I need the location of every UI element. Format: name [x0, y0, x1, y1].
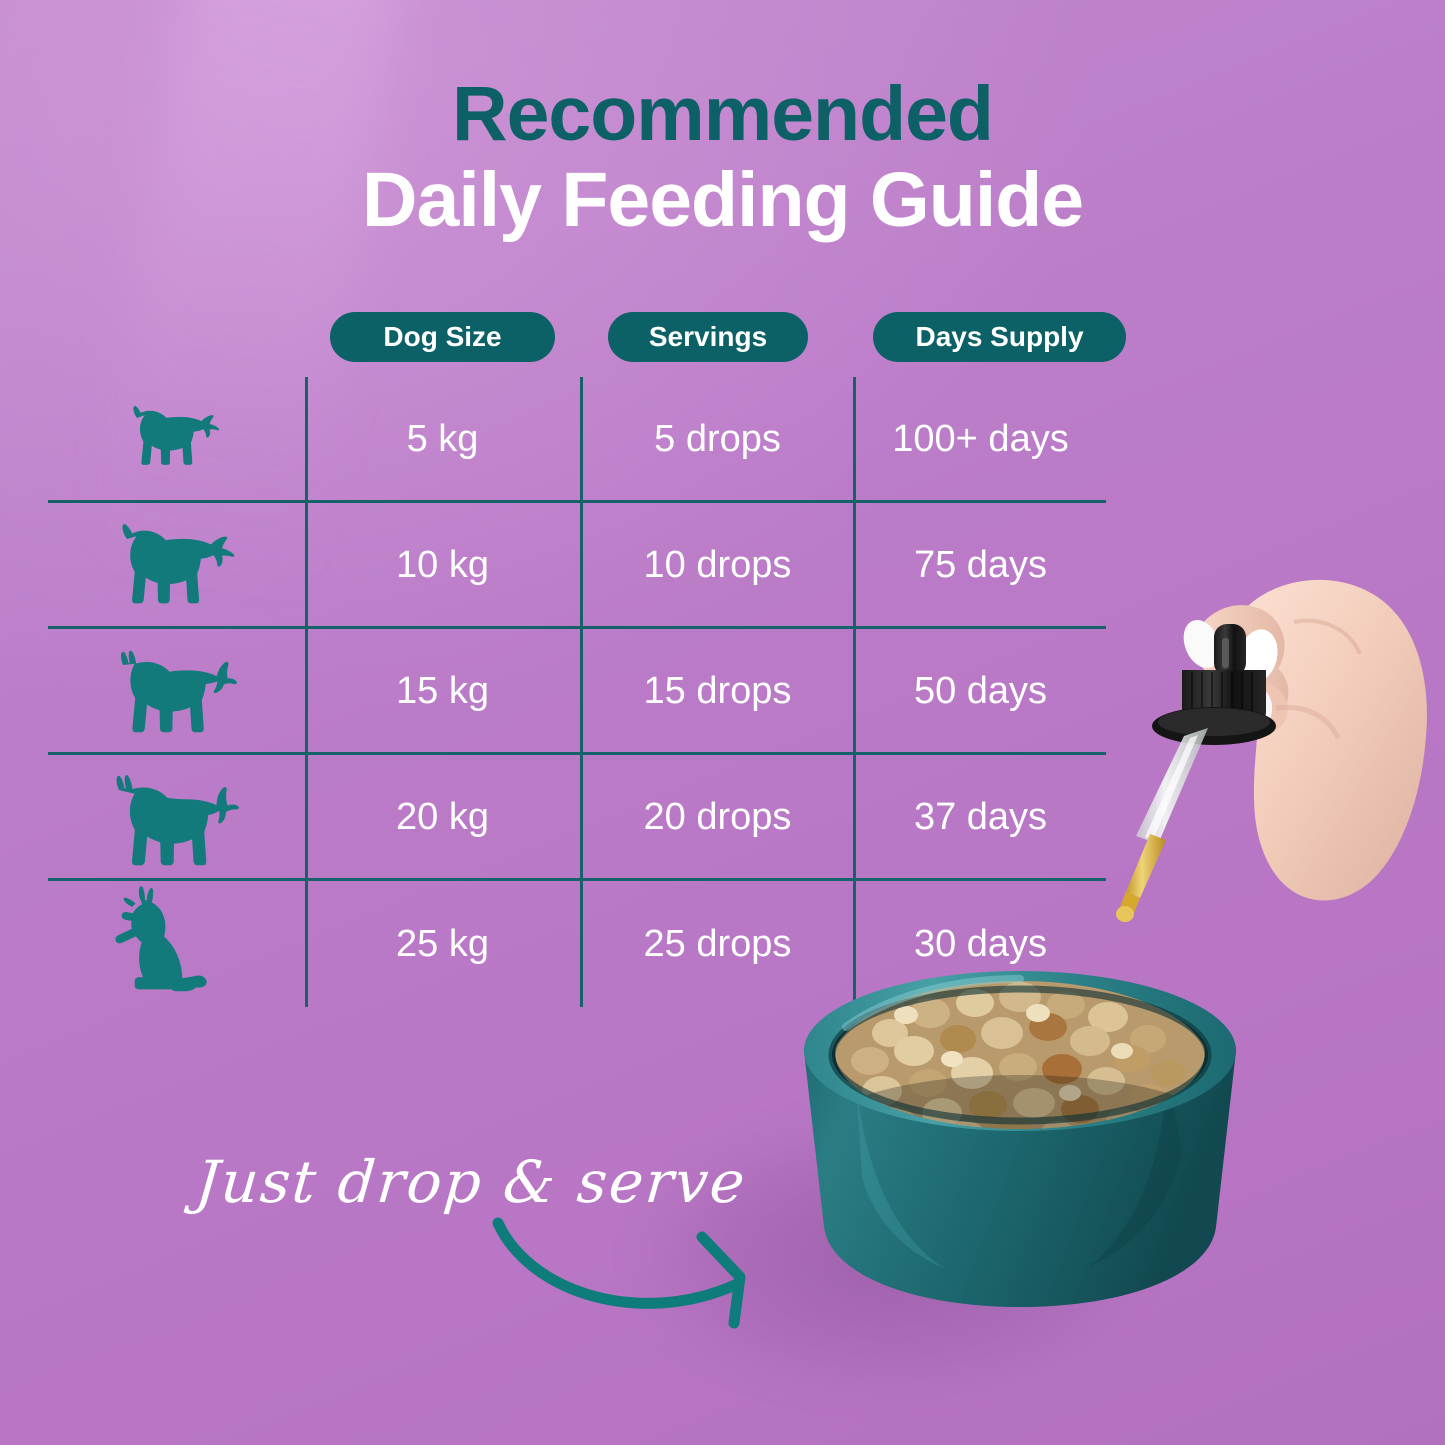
- cell-dog-size: 5 kg: [305, 420, 580, 458]
- cell-dog-size: 20 kg: [305, 798, 580, 836]
- cell-servings: 20 drops: [580, 798, 855, 836]
- title-line-daily-feeding-guide: Daily Feeding Guide: [0, 155, 1445, 246]
- dog-curled-tail-standing-icon: [48, 755, 305, 878]
- caption-just-drop-and-serve: Just drop & serve: [193, 1148, 749, 1216]
- hand-holding-dropper-photo: [1098, 558, 1445, 945]
- column-header-servings: Servings: [608, 312, 808, 362]
- cell-days-supply: 75 days: [855, 546, 1106, 584]
- cell-servings: 5 drops: [580, 420, 855, 458]
- page-title: Recommended Daily Feeding Guide: [0, 74, 1445, 246]
- column-header-days-supply: Days Supply: [873, 312, 1126, 362]
- table-row: 20 kg 20 drops 37 days: [48, 755, 1106, 881]
- cell-days-supply: 100+ days: [855, 420, 1106, 458]
- dog-small-standing-icon: [48, 377, 305, 500]
- dog-food-bowl-photo: [770, 955, 1270, 1400]
- table-row: 15 kg 15 drops 50 days: [48, 629, 1106, 755]
- feeding-guide-table: 5 kg 5 drops 100+ days 10 kg 10 drops 75…: [48, 377, 1106, 1007]
- cell-servings: 10 drops: [580, 546, 855, 584]
- cell-dog-size: 25 kg: [305, 925, 580, 963]
- table-row: 5 kg 5 drops 100+ days: [48, 377, 1106, 503]
- title-line-recommended: Recommended: [0, 74, 1445, 155]
- cell-servings: 15 drops: [580, 672, 855, 710]
- cell-days-supply: 37 days: [855, 798, 1106, 836]
- dog-husky-standing-icon: [48, 629, 305, 752]
- cell-days-supply: 50 days: [855, 672, 1106, 710]
- cell-dog-size: 10 kg: [305, 546, 580, 584]
- table-row: 10 kg 10 drops 75 days: [48, 503, 1106, 629]
- column-header-dog-size: Dog Size: [330, 312, 555, 362]
- cell-dog-size: 15 kg: [305, 672, 580, 710]
- table-header-pills: Dog Size Servings Days Supply: [305, 312, 1105, 362]
- dog-retriever-standing-icon: [48, 503, 305, 626]
- dog-shepherd-sitting-icon: [48, 881, 305, 1007]
